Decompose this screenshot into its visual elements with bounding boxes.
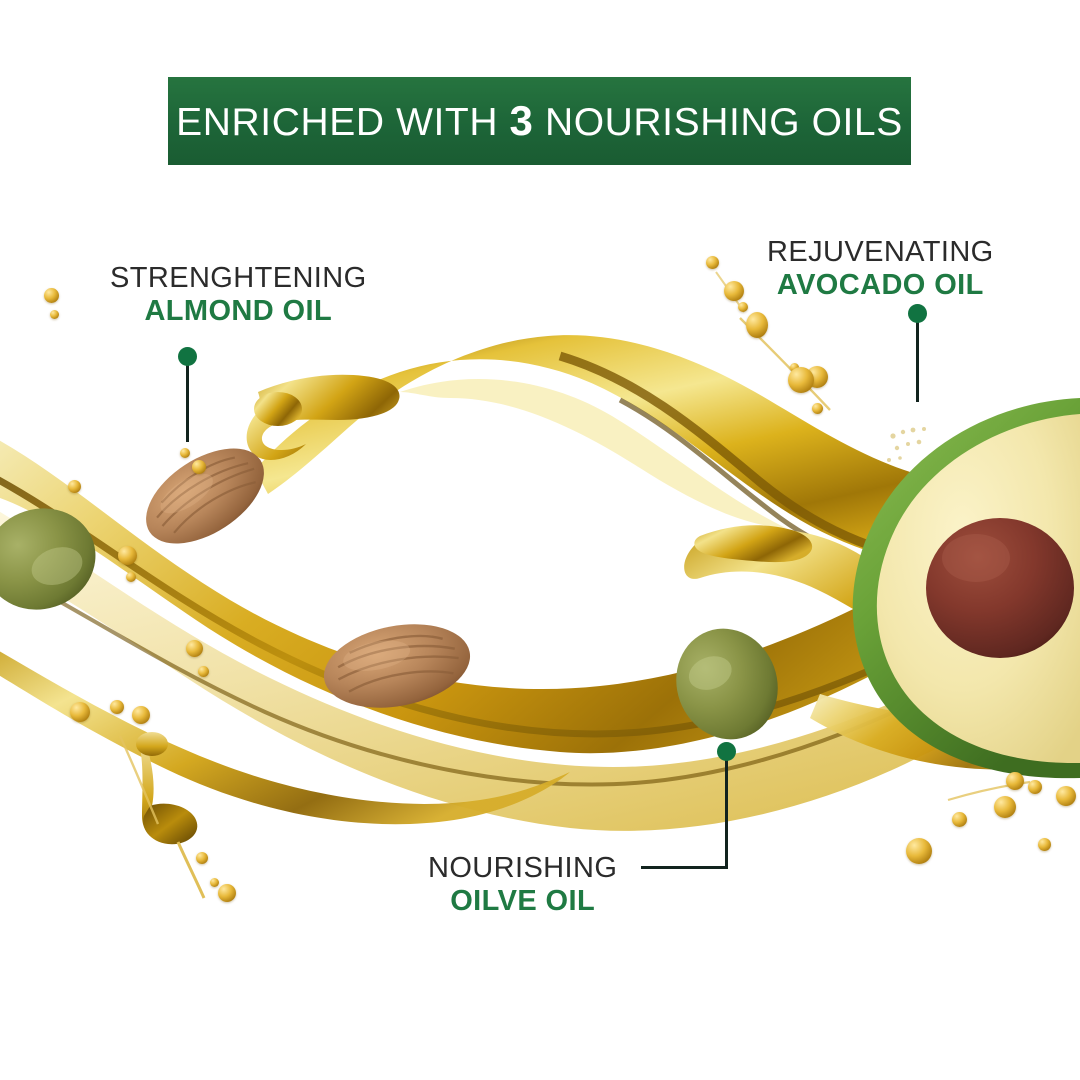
promo-graphic: ENRICHED WITH 3 NOURISHING OILS STRENGHT… bbox=[0, 0, 1080, 1080]
callout-oilname-olive: OILVE OIL bbox=[428, 885, 617, 918]
callout-label-olive: NOURISHING OILVE OIL bbox=[428, 852, 617, 918]
callout-oilname-almond: ALMOND OIL bbox=[110, 295, 367, 328]
avocado-pit-sheen bbox=[942, 534, 1010, 582]
callout-label-almond: STRENGHTENING ALMOND OIL bbox=[110, 262, 367, 328]
oil-tongue-bulb bbox=[254, 392, 302, 426]
callout-oilname-avocado: AVOCADO OIL bbox=[767, 269, 994, 302]
oil-drip-blob-1 bbox=[136, 732, 168, 756]
droplet bbox=[50, 310, 59, 319]
droplet bbox=[812, 403, 823, 414]
droplet bbox=[70, 702, 90, 722]
headline-text: ENRICHED WITH 3 NOURISHING OILS bbox=[176, 97, 903, 145]
droplet bbox=[180, 448, 190, 458]
droplet bbox=[906, 838, 932, 864]
leader-dot-avocado bbox=[908, 304, 927, 323]
droplet bbox=[218, 884, 236, 902]
headline-number: 3 bbox=[510, 97, 534, 144]
droplet bbox=[132, 706, 150, 724]
droplet bbox=[788, 367, 814, 393]
droplet bbox=[126, 572, 136, 582]
callout-adjective-olive: NOURISHING bbox=[428, 852, 617, 885]
droplet bbox=[210, 878, 219, 887]
headline-suffix: NOURISHING OILS bbox=[534, 101, 903, 144]
callout-adjective-almond: STRENGHTENING bbox=[110, 262, 367, 295]
leader-line-almond bbox=[186, 362, 189, 442]
oil-drip-thread bbox=[178, 842, 204, 898]
droplet bbox=[994, 796, 1016, 818]
droplet bbox=[952, 812, 967, 827]
droplet bbox=[198, 666, 209, 677]
droplet bbox=[186, 640, 203, 657]
avocado-flesh-speckles bbox=[887, 427, 926, 462]
droplet bbox=[68, 480, 81, 493]
droplet bbox=[724, 281, 744, 301]
leader-line-olive-horizontal bbox=[641, 866, 728, 869]
callout-label-avocado: REJUVENATING AVOCADO OIL bbox=[767, 236, 994, 302]
droplet bbox=[192, 460, 206, 474]
droplet bbox=[1028, 780, 1042, 794]
callout-adjective-avocado: REJUVENATING bbox=[767, 236, 994, 269]
leader-line-avocado bbox=[916, 320, 919, 402]
headline-prefix: ENRICHED WITH bbox=[176, 101, 509, 144]
droplet bbox=[738, 302, 748, 312]
leader-dot-olive bbox=[717, 742, 736, 761]
droplet bbox=[118, 546, 137, 565]
leader-dot-almond bbox=[178, 347, 197, 366]
droplet bbox=[746, 312, 768, 338]
headline-banner: ENRICHED WITH 3 NOURISHING OILS bbox=[168, 77, 911, 165]
droplet bbox=[44, 288, 59, 303]
droplet bbox=[1006, 772, 1024, 790]
droplet bbox=[110, 700, 124, 714]
droplet bbox=[1038, 838, 1051, 851]
droplet bbox=[196, 852, 208, 864]
leader-line-olive-vertical bbox=[725, 758, 728, 868]
avocado-pit bbox=[926, 518, 1074, 658]
droplet bbox=[706, 256, 719, 269]
droplet bbox=[1056, 786, 1076, 806]
